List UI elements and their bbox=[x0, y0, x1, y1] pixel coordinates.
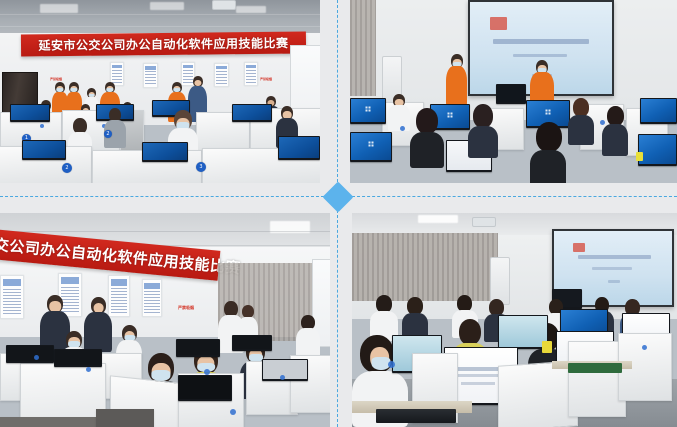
cubicle-partition bbox=[498, 360, 578, 427]
windows-logo-icon bbox=[448, 112, 453, 117]
monitor-screen bbox=[143, 143, 187, 160]
monitor-screen bbox=[233, 105, 271, 120]
slide-title-line bbox=[578, 255, 651, 259]
monitor bbox=[178, 375, 232, 401]
divider-vertical-top bbox=[337, 0, 338, 182]
desk-number-badge: 3 bbox=[196, 162, 206, 172]
torso bbox=[446, 66, 467, 106]
monitor bbox=[6, 345, 54, 363]
wall-logo: 严禁吸烟 bbox=[260, 77, 272, 81]
monitor-screen bbox=[177, 340, 219, 355]
windows-logo-icon bbox=[546, 109, 551, 114]
monitor bbox=[638, 134, 677, 166]
wall-logo: 严禁吸烟 bbox=[50, 77, 62, 81]
projector bbox=[212, 0, 236, 10]
photo-bottom-left[interactable]: 交公司办公自动化软件应用技能比赛 严禁吸烟 bbox=[0, 213, 330, 427]
partition-dot bbox=[388, 361, 395, 368]
monitor bbox=[496, 84, 526, 104]
person-seated bbox=[370, 295, 398, 339]
torso bbox=[602, 124, 628, 156]
monitor-screen bbox=[7, 346, 53, 361]
torso bbox=[388, 105, 410, 131]
photo-top-right[interactable] bbox=[350, 0, 677, 183]
monitor bbox=[262, 359, 308, 381]
monitor-screen bbox=[351, 99, 385, 122]
ceiling-light bbox=[236, 6, 266, 13]
torso bbox=[568, 115, 594, 145]
windows-logo-icon bbox=[369, 142, 374, 147]
monitor bbox=[498, 315, 548, 349]
desk-number-badge: 2 bbox=[62, 163, 72, 173]
monitor bbox=[350, 132, 392, 162]
monitor-screen bbox=[55, 350, 101, 365]
partition-dot bbox=[600, 120, 605, 125]
monitor-screen bbox=[23, 141, 65, 158]
head bbox=[459, 319, 481, 345]
monitor-screen bbox=[499, 316, 547, 347]
head bbox=[607, 106, 624, 126]
monitor bbox=[22, 140, 66, 160]
torso bbox=[410, 132, 444, 168]
monitor bbox=[176, 339, 220, 357]
monitor bbox=[350, 98, 386, 124]
divider-horizontal-left bbox=[0, 196, 324, 197]
photo-top-left-scene: 延安市公交公司办公自动化软件应用技能比赛 严禁吸烟 严禁吸烟 bbox=[0, 0, 320, 183]
curtain bbox=[350, 0, 376, 96]
torso bbox=[468, 126, 498, 158]
collage-canvas: 延安市公交公司办公自动化软件应用技能比赛 严禁吸烟 严禁吸烟 bbox=[0, 0, 677, 427]
photo-top-right-scene bbox=[350, 0, 677, 183]
partition-dot bbox=[86, 367, 91, 372]
wall-notice bbox=[142, 279, 162, 317]
head bbox=[174, 110, 192, 130]
photo-bottom-right[interactable] bbox=[352, 213, 677, 427]
partition-dot bbox=[230, 409, 236, 415]
slide-logo bbox=[490, 17, 507, 30]
event-banner-text: 延安市公交公司办公自动化软件应用技能比赛 bbox=[21, 34, 306, 54]
ceiling-grid-line bbox=[0, 14, 320, 15]
monitor-screen bbox=[497, 85, 525, 102]
monitor-screen bbox=[351, 133, 391, 160]
person-seated bbox=[468, 104, 498, 156]
divider-vertical-bottom bbox=[337, 210, 338, 427]
partition-dot bbox=[34, 355, 39, 360]
event-banner: 延安市公交公司办公自动化软件应用技能比赛 bbox=[21, 32, 306, 57]
torso bbox=[530, 150, 566, 183]
head bbox=[148, 353, 174, 383]
person-seated bbox=[104, 108, 126, 146]
person-seated bbox=[602, 106, 628, 154]
wall-notice bbox=[214, 63, 229, 87]
monitor-screen bbox=[11, 105, 49, 120]
slide-logo bbox=[573, 243, 585, 252]
torso bbox=[84, 312, 112, 352]
document-line bbox=[451, 374, 501, 377]
windows-logo-icon bbox=[366, 106, 371, 111]
person-seated bbox=[530, 122, 566, 183]
center-diamond-ornament bbox=[322, 181, 353, 212]
yellow-sticker bbox=[542, 341, 552, 353]
divider-horizontal-right bbox=[352, 196, 677, 197]
ceiling-light bbox=[150, 2, 184, 10]
mousepad bbox=[568, 363, 622, 373]
ceiling-grid-line bbox=[0, 26, 320, 27]
head bbox=[416, 108, 438, 134]
air-conditioner bbox=[490, 257, 510, 305]
person-seated bbox=[388, 94, 410, 130]
slide-subtitle-line bbox=[592, 267, 632, 270]
desk-edge bbox=[0, 417, 110, 427]
monitor bbox=[232, 104, 272, 122]
projector bbox=[472, 217, 496, 227]
slide-footer-line bbox=[608, 280, 620, 283]
monitor bbox=[142, 142, 188, 162]
monitor bbox=[278, 136, 320, 160]
yellow-sticker bbox=[636, 152, 643, 161]
ceiling-grid-line bbox=[0, 231, 330, 232]
monitor-screen bbox=[279, 137, 319, 158]
monitor-screen bbox=[639, 135, 676, 164]
desk-number-badge: 2 bbox=[104, 130, 112, 138]
partition-dot bbox=[40, 124, 44, 128]
partition-dot bbox=[400, 126, 405, 131]
ceiling-light bbox=[418, 215, 458, 223]
monitor bbox=[232, 335, 272, 351]
monitor bbox=[10, 104, 50, 122]
monitor bbox=[640, 98, 677, 124]
head bbox=[473, 104, 493, 128]
person-standing bbox=[84, 297, 112, 353]
curtain bbox=[352, 233, 498, 301]
person-seated bbox=[568, 98, 594, 142]
person-seated bbox=[410, 108, 444, 166]
monitor bbox=[54, 349, 102, 367]
keyboard bbox=[376, 409, 456, 423]
photo-top-left[interactable]: 延安市公交公司办公自动化软件应用技能比赛 严禁吸烟 严禁吸烟 bbox=[0, 0, 320, 183]
photo-bottom-right-scene bbox=[352, 213, 677, 427]
wall-notice bbox=[244, 62, 258, 86]
monitor-screen bbox=[179, 376, 231, 399]
document-line bbox=[461, 382, 496, 385]
monitor-screen bbox=[233, 336, 271, 349]
monitor-screen bbox=[263, 360, 307, 379]
wall-notice bbox=[143, 63, 158, 88]
slide-subtitle-line bbox=[513, 54, 567, 57]
photo-bottom-left-scene: 交公司办公自动化软件应用技能比赛 严禁吸烟 bbox=[0, 213, 330, 427]
partition-dot bbox=[204, 369, 210, 375]
desk-edge bbox=[96, 409, 154, 427]
ceiling-light bbox=[40, 4, 78, 13]
slide-title-line bbox=[493, 39, 590, 44]
monitor-screen bbox=[641, 99, 676, 122]
wall-notice bbox=[0, 275, 24, 319]
wall-logo: 严禁吸烟 bbox=[178, 305, 194, 311]
partition-dot bbox=[280, 375, 285, 380]
head bbox=[536, 122, 562, 152]
person-seated bbox=[296, 315, 320, 359]
person-seated bbox=[402, 297, 428, 339]
partition-dot bbox=[642, 345, 647, 350]
